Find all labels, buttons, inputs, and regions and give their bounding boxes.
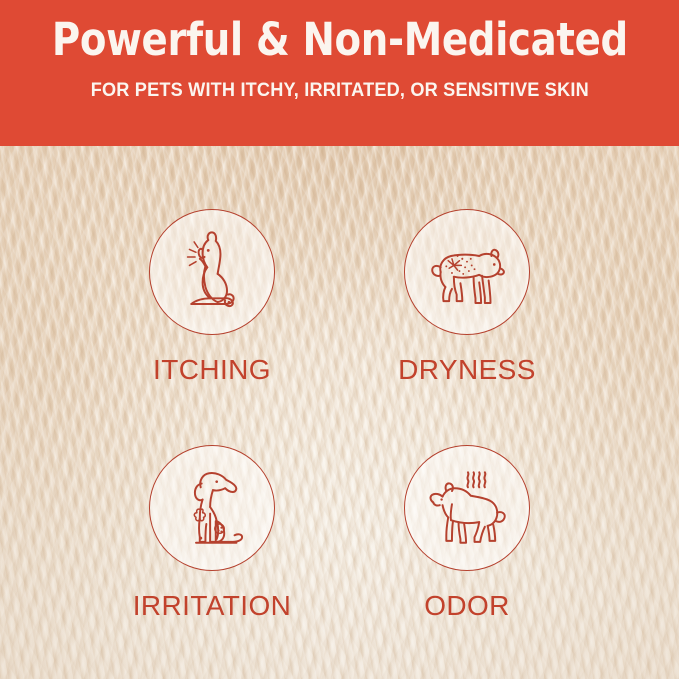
header-banner: Powerful & Non-Medicated FOR PETS WITH I…	[0, 0, 679, 146]
feature-badge-irritation	[149, 445, 275, 571]
feature-item-itching: ITCHING	[97, 209, 327, 386]
banner-subtitle: FOR PETS WITH ITCHY, IRRITATED, OR SENSI…	[90, 79, 588, 102]
dog-odor-waves-icon	[420, 461, 514, 555]
product-feature-graphic: Powerful & Non-Medicated FOR PETS WITH I…	[0, 0, 679, 679]
feature-item-irritation: IRRITATION	[97, 445, 327, 622]
feature-label-odor: ODOR	[424, 590, 510, 622]
feature-badge-itching	[149, 209, 275, 335]
feature-item-dryness: DRYNESS	[352, 209, 582, 386]
feature-badge-dryness	[404, 209, 530, 335]
feature-label-irritation: IRRITATION	[133, 590, 292, 622]
feature-label-itching: ITCHING	[153, 354, 271, 386]
feature-grid: ITCHING	[0, 146, 679, 679]
feature-badge-odor	[404, 445, 530, 571]
dog-scratching-icon	[165, 225, 259, 319]
feature-label-dryness: DRYNESS	[398, 354, 536, 386]
dog-irritated-patches-icon	[165, 461, 259, 555]
banner-title: Powerful & Non-Medicated	[52, 17, 628, 64]
feature-item-odor: ODOR	[352, 445, 582, 622]
dog-flaky-skin-icon	[420, 225, 514, 319]
